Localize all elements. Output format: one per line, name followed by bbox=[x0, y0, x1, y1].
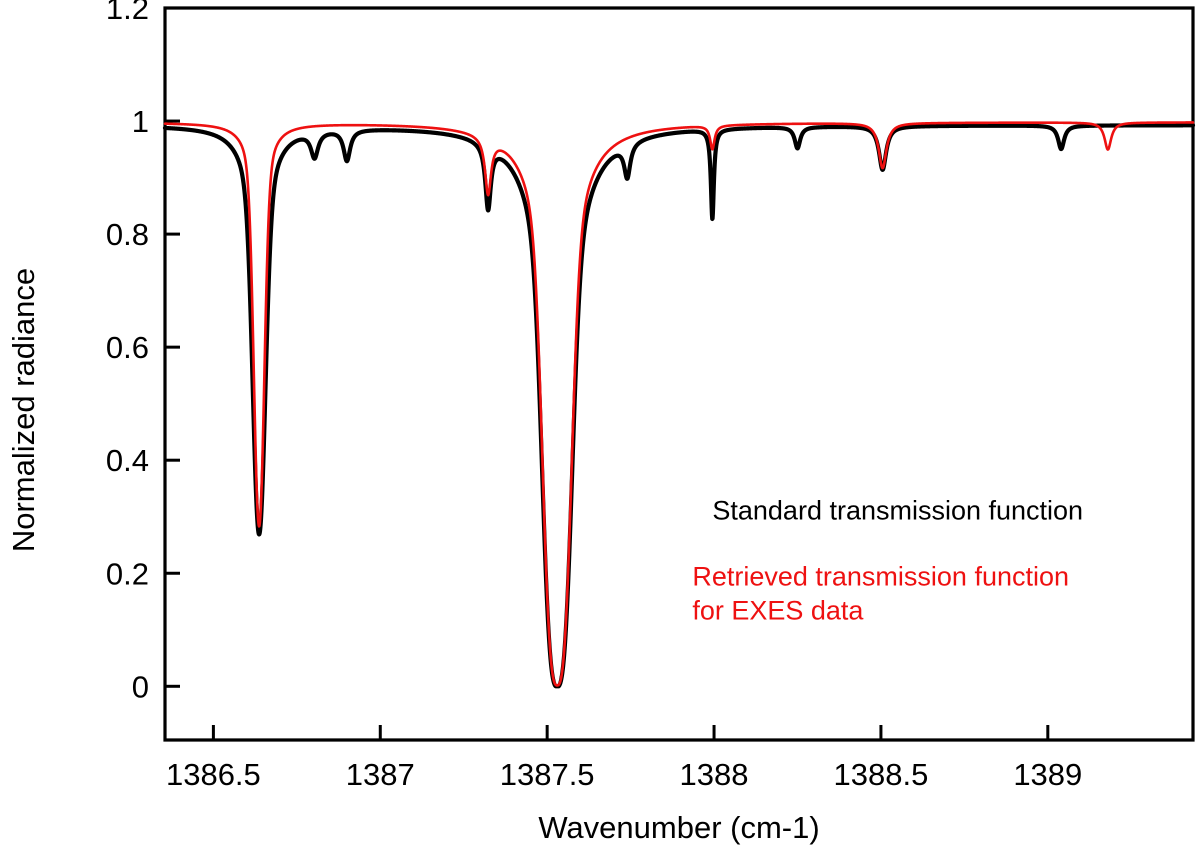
x-tick-label-2: 1387.5 bbox=[500, 757, 595, 792]
y-tick-label-0: 0 bbox=[132, 669, 149, 704]
y-tick-label-4: 0.8 bbox=[106, 217, 149, 252]
y-tick-label-1: 0.2 bbox=[106, 556, 149, 591]
x-tick-label-5: 1389 bbox=[1013, 757, 1082, 792]
y-tick-label-2: 0.4 bbox=[106, 443, 149, 478]
y-tick-label-6: 1.2 bbox=[106, 0, 149, 26]
x-tick-label-1: 1387 bbox=[346, 757, 415, 792]
spectrum-plot: 1386.513871387.513881388.51389 00.20.40.… bbox=[0, 0, 1200, 850]
legend-label-0: Standard transmission function bbox=[712, 496, 1083, 526]
x-tick-label-3: 1388 bbox=[680, 757, 749, 792]
y-axis-title: Normalized radiance bbox=[6, 268, 41, 552]
legend-label-1: Retrieved transmission function bbox=[692, 562, 1069, 592]
y-tick-label-3: 0.6 bbox=[106, 330, 149, 365]
chart-page: 1386.513871387.513881388.51389 00.20.40.… bbox=[0, 0, 1200, 850]
legend-label-2: for EXES data bbox=[692, 596, 864, 626]
y-tick-label-5: 1 bbox=[132, 104, 149, 139]
x-tick-label-0: 1386.5 bbox=[166, 757, 261, 792]
x-tick-label-4: 1388.5 bbox=[834, 757, 929, 792]
x-axis-title: Wavenumber (cm-1) bbox=[538, 810, 819, 845]
